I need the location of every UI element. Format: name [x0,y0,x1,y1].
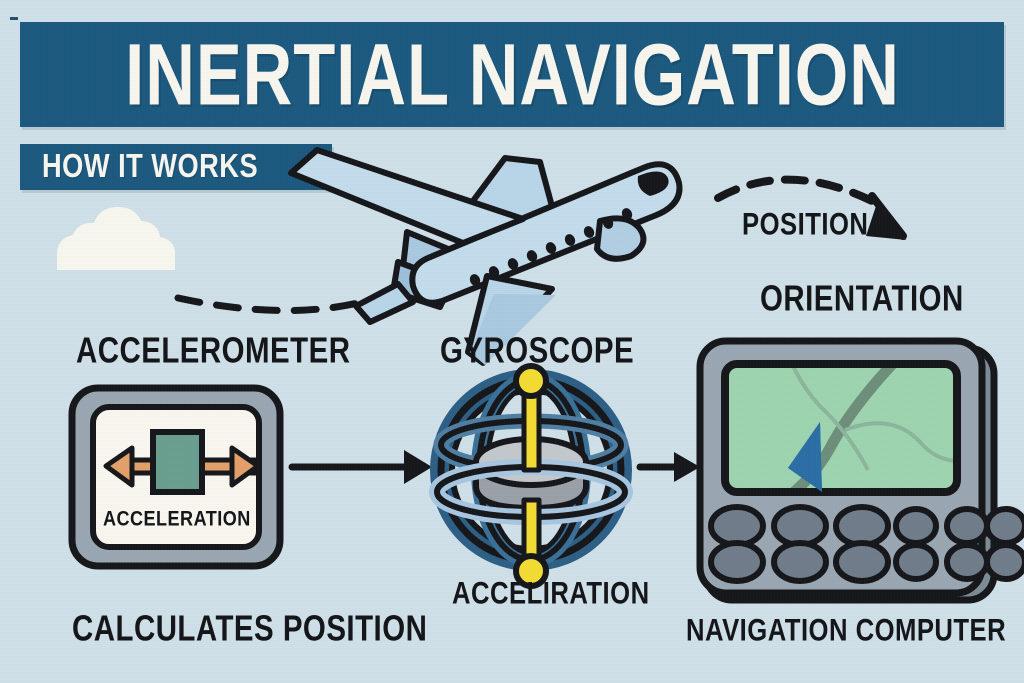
arrow-gyroscope-to-computer [640,452,700,482]
arrow-accelerometer-to-gyroscope [292,450,432,484]
navigation-computer-label: NAVIGATION COMPUTER [686,613,1006,649]
accelerometer-device [72,388,280,566]
accelerometer-title: ACCELEROMETER [76,330,351,372]
gyroscope-device [437,366,625,586]
orientation-annotation: ORIENTATION [760,278,964,320]
cloud-icon [57,207,175,270]
gyroscope-title: GYROSCOPE [440,330,634,372]
position-annotation: POSITION [742,207,868,243]
accelerometer-inner-label: ACCELERATION [103,507,251,532]
calculates-position-label: CALCULATES POSITION [72,608,427,650]
navigation-computer-device [700,341,1024,600]
proof-mass-block [153,432,202,492]
infographic-canvas: INERTIAL NAVIGATION HOW IT WORKS [0,0,1024,683]
gyroscope-footer-label: ACCELIRATION [452,576,650,612]
